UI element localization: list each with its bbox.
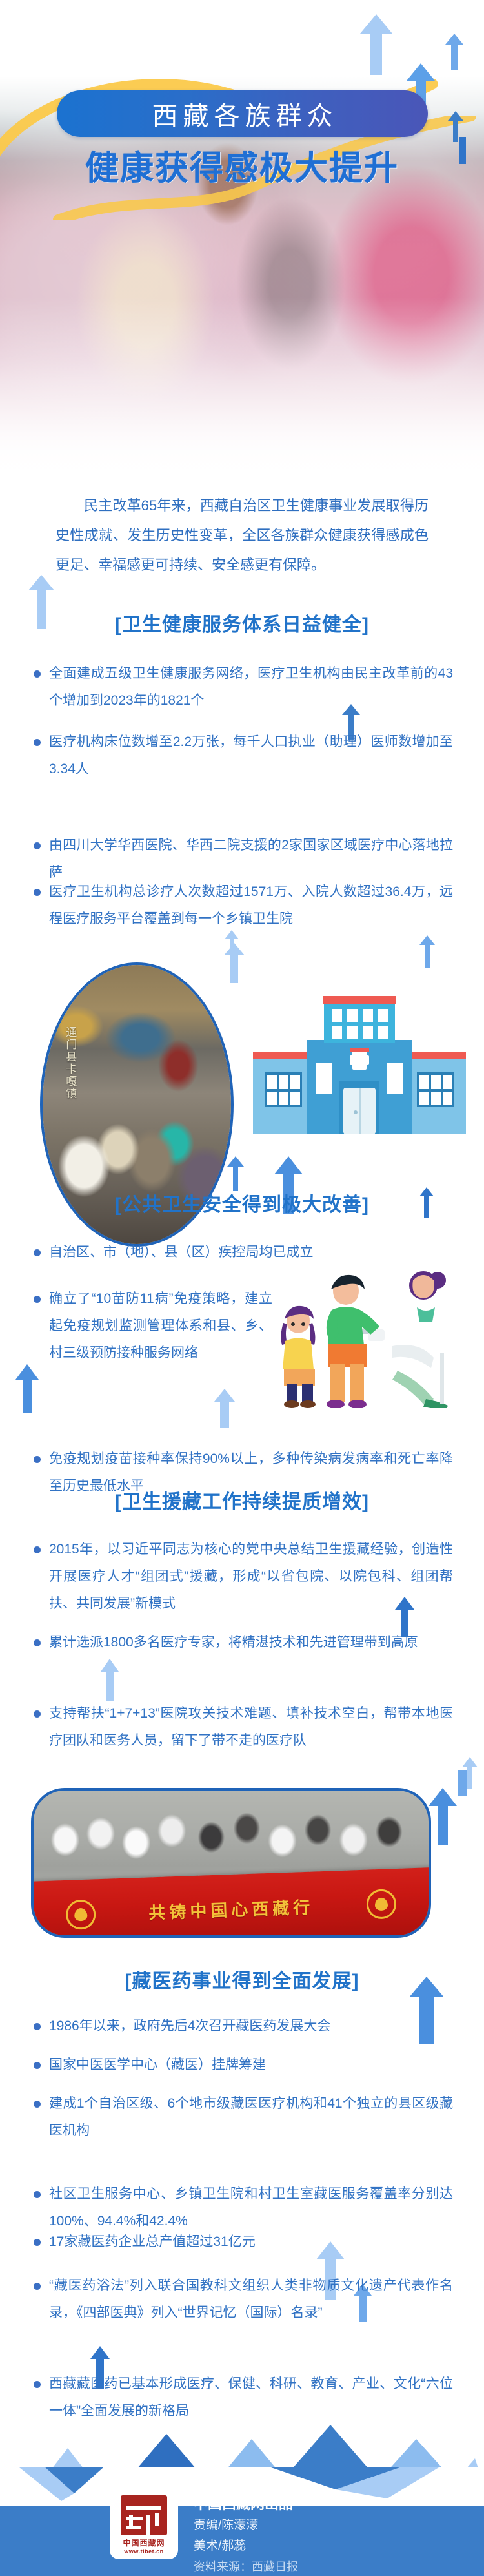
bullet-text: “藏医药浴法”列入联合国教科文组织人类非物质文化遗产代表作名录，《四部医典》列入… <box>49 2272 453 2327</box>
up-arrow-icon <box>101 1659 119 1701</box>
bullet-text: 医疗机构床位数增至2.2万张，每千人口执业（助理）医师数增加至3.34人 <box>49 729 453 783</box>
bullet-item-continuation <box>34 1331 272 1348</box>
bullet-text: 支持帮扶“1+7+13”医院攻关技术难题、填补技术空白，帮带本地医疗团队和医务人… <box>49 1700 453 1754</box>
logo-seal-icon <box>121 2495 167 2535</box>
producer-line: 中国西藏网出品 <box>194 2493 298 2515</box>
bullet-dot-icon <box>34 2239 41 2246</box>
bullet-dot-icon <box>34 2101 41 2108</box>
up-arrow-icon <box>360 14 392 75</box>
bullet-dot-icon <box>34 842 41 849</box>
bullet-item: 17家藏医药企业总产值超过31亿元 <box>34 2228 453 2256</box>
up-arrow-icon <box>419 1187 434 1218</box>
hero-pill-title: 西藏各族群众 <box>147 95 338 132</box>
up-arrow-icon <box>456 1770 470 1796</box>
bullet-item: 医疗机构床位数增至2.2万张，每千人口执业（助理）医师数增加至3.34人 <box>34 729 453 783</box>
bullet-dot-icon <box>34 670 41 678</box>
bullet-dot-icon <box>34 2283 41 2290</box>
medical-team-group-photo: 共铸中国心西藏行 <box>31 1788 431 1938</box>
up-arrow-icon <box>224 943 245 983</box>
bullet-text: 全面建成五级卫生健康服务网络，医疗卫生机构由民主改革前的43个增加到2023年的… <box>49 660 453 714</box>
bullet-item: 国家中医医学中心（藏医）挂牌筹建 <box>34 2051 434 2079</box>
bullet-text: 建成1个自治区级、6个地市级藏医医疗机构和41个独立的县区级藏医机构 <box>49 2090 453 2145</box>
vaccination-illustration <box>271 1261 458 1408</box>
footer-credits: 中国西藏网出品 责编/陈濛濛 美术/郝蕊 资料来源：西藏日报 <box>194 2491 298 2576</box>
medical-cross-icon <box>350 1048 369 1070</box>
section-heading-2: [公共卫生安全得到极大改善] <box>0 1189 484 1217</box>
up-arrow-icon <box>429 1788 457 1845</box>
up-arrow-icon <box>227 1156 244 1191</box>
bullet-item: 建成1个自治区级、6个地市级藏医医疗机构和41个独立的县区级藏医机构 <box>34 2090 453 2145</box>
footer: 中国西藏网 www.tibet.cn 中国西藏网出品 责编/陈濛濛 美术/郝蕊 … <box>0 2467 484 2576</box>
bullet-item: 2015年，以习近平同志为核心的党中央总结卫生援藏经验，创造性开展医疗人才“组团… <box>34 1536 453 1617</box>
bullet-item: 确立了“10苗防11病”免疫策略，建立起免疫规划监测管理体系和县、乡、村三级预防… <box>34 1285 272 1367</box>
bullet-text: 国家中医医学中心（藏医）挂牌筹建 <box>49 2051 266 2079</box>
up-arrow-icon <box>15 1364 39 1413</box>
bullet-dot-icon <box>34 889 41 896</box>
up-arrow-icon <box>214 1389 235 1428</box>
bullet-text: 17家藏医药企业总产值超过31亿元 <box>49 2228 256 2256</box>
bullet-dot-icon <box>34 1546 41 1553</box>
art-line: 美术/郝蕊 <box>194 2536 298 2557</box>
up-arrow-icon <box>419 935 435 968</box>
bullet-item: “藏医药浴法”列入联合国教科文组织人类非物质文化遗产代表作名录，《四部医典》列入… <box>34 2272 453 2327</box>
section-heading-3: [卫生援藏工作持续提质增效] <box>0 1486 484 1514</box>
bullet-dot-icon <box>34 2191 41 2198</box>
clinic-photo-caption: 通门县卡嘎镇 <box>61 1026 78 1100</box>
logo-name: 中国西藏网 <box>123 2537 165 2548</box>
bullet-item: 累计选派1800多名医疗专家，将精湛技术和先进管理带到高原 <box>34 1629 453 1656</box>
tibet-net-logo: 中国西藏网 www.tibet.cn <box>110 2491 178 2559</box>
intro-paragraph: 民主改革65年来，西藏自治区卫生健康事业发展取得历史性成就、发生历史性变革，全区… <box>55 491 429 580</box>
bullet-dot-icon <box>34 1710 41 1718</box>
bullet-item: 全面建成五级卫生健康服务网络，医疗卫生机构由民主改革前的43个增加到2023年的… <box>34 660 453 714</box>
bullet-dot-icon <box>34 2062 41 2069</box>
infographic-page: 西藏各族群众 健康获得感极大提升 民主改革65年来，西藏自治区卫生健康事业发展取… <box>0 0 484 2576</box>
bullet-text: 累计选派1800多名医疗专家，将精湛技术和先进管理带到高原 <box>49 1629 418 1656</box>
bullet-dot-icon <box>34 2023 41 2030</box>
footer-content: 中国西藏网 www.tibet.cn 中国西藏网出品 责编/陈濛濛 美术/郝蕊 … <box>110 2491 298 2576</box>
bullet-item: 支持帮扶“1+7+13”医院攻关技术难题、填补技术空白，帮带本地医疗团队和医务人… <box>34 1700 453 1754</box>
section-heading-1: [卫生健康服务体系日益健全] <box>0 608 484 637</box>
bullet-dot-icon <box>34 1249 41 1256</box>
bullet-item: 医疗卫生机构总诊疗人次数超过1571万、入院人数超过36.4万，远程医疗服务平台… <box>34 878 453 933</box>
hospital-building-illustration <box>253 995 466 1150</box>
up-arrow-icon <box>445 34 463 70</box>
bullet-text: 2015年，以习近平同志为核心的党中央总结卫生援藏经验，创造性开展医疗人才“组团… <box>49 1536 453 1617</box>
editor-line: 责编/陈濛濛 <box>194 2515 298 2536</box>
bullet-dot-icon <box>34 1296 41 1303</box>
bullet-dot-icon <box>34 1639 41 1646</box>
bullet-text: 医疗卫生机构总诊疗人次数超过1571万、入院人数超过36.4万，远程医疗服务平台… <box>49 878 453 933</box>
bullet-text: 社区卫生服务中心、乡镇卫生院和村卫生室藏医服务覆盖率分别达100%、94.4%和… <box>49 2181 453 2235</box>
hero-section: 西藏各族群众 健康获得感极大提升 <box>0 0 484 491</box>
bullet-item: 社区卫生服务中心、乡镇卫生院和村卫生室藏医服务覆盖率分别达100%、94.4%和… <box>34 2181 453 2235</box>
bullet-dot-icon <box>34 739 41 746</box>
page-title: 健康获得感极大提升 <box>0 141 484 189</box>
bullet-dot-icon <box>34 1456 41 1463</box>
bullet-text: 1986年以来，政府先后4次召开藏医药发展大会 <box>49 2013 330 2040</box>
bullet-item: 1986年以来，政府先后4次召开藏医药发展大会 <box>34 2013 434 2040</box>
hero-title-pill: 西藏各族群众 <box>57 90 428 137</box>
crowd-figures <box>34 1791 429 1880</box>
bullet-dot-icon <box>34 2381 41 2388</box>
bullet-text: 确立了“10苗防11病”免疫策略，建立起免疫规划监测管理体系和县、乡、村三级预防… <box>49 1285 272 1367</box>
logo-url: www.tibet.cn <box>124 2548 163 2555</box>
source-line: 资料来源：西藏日报 <box>194 2557 298 2576</box>
